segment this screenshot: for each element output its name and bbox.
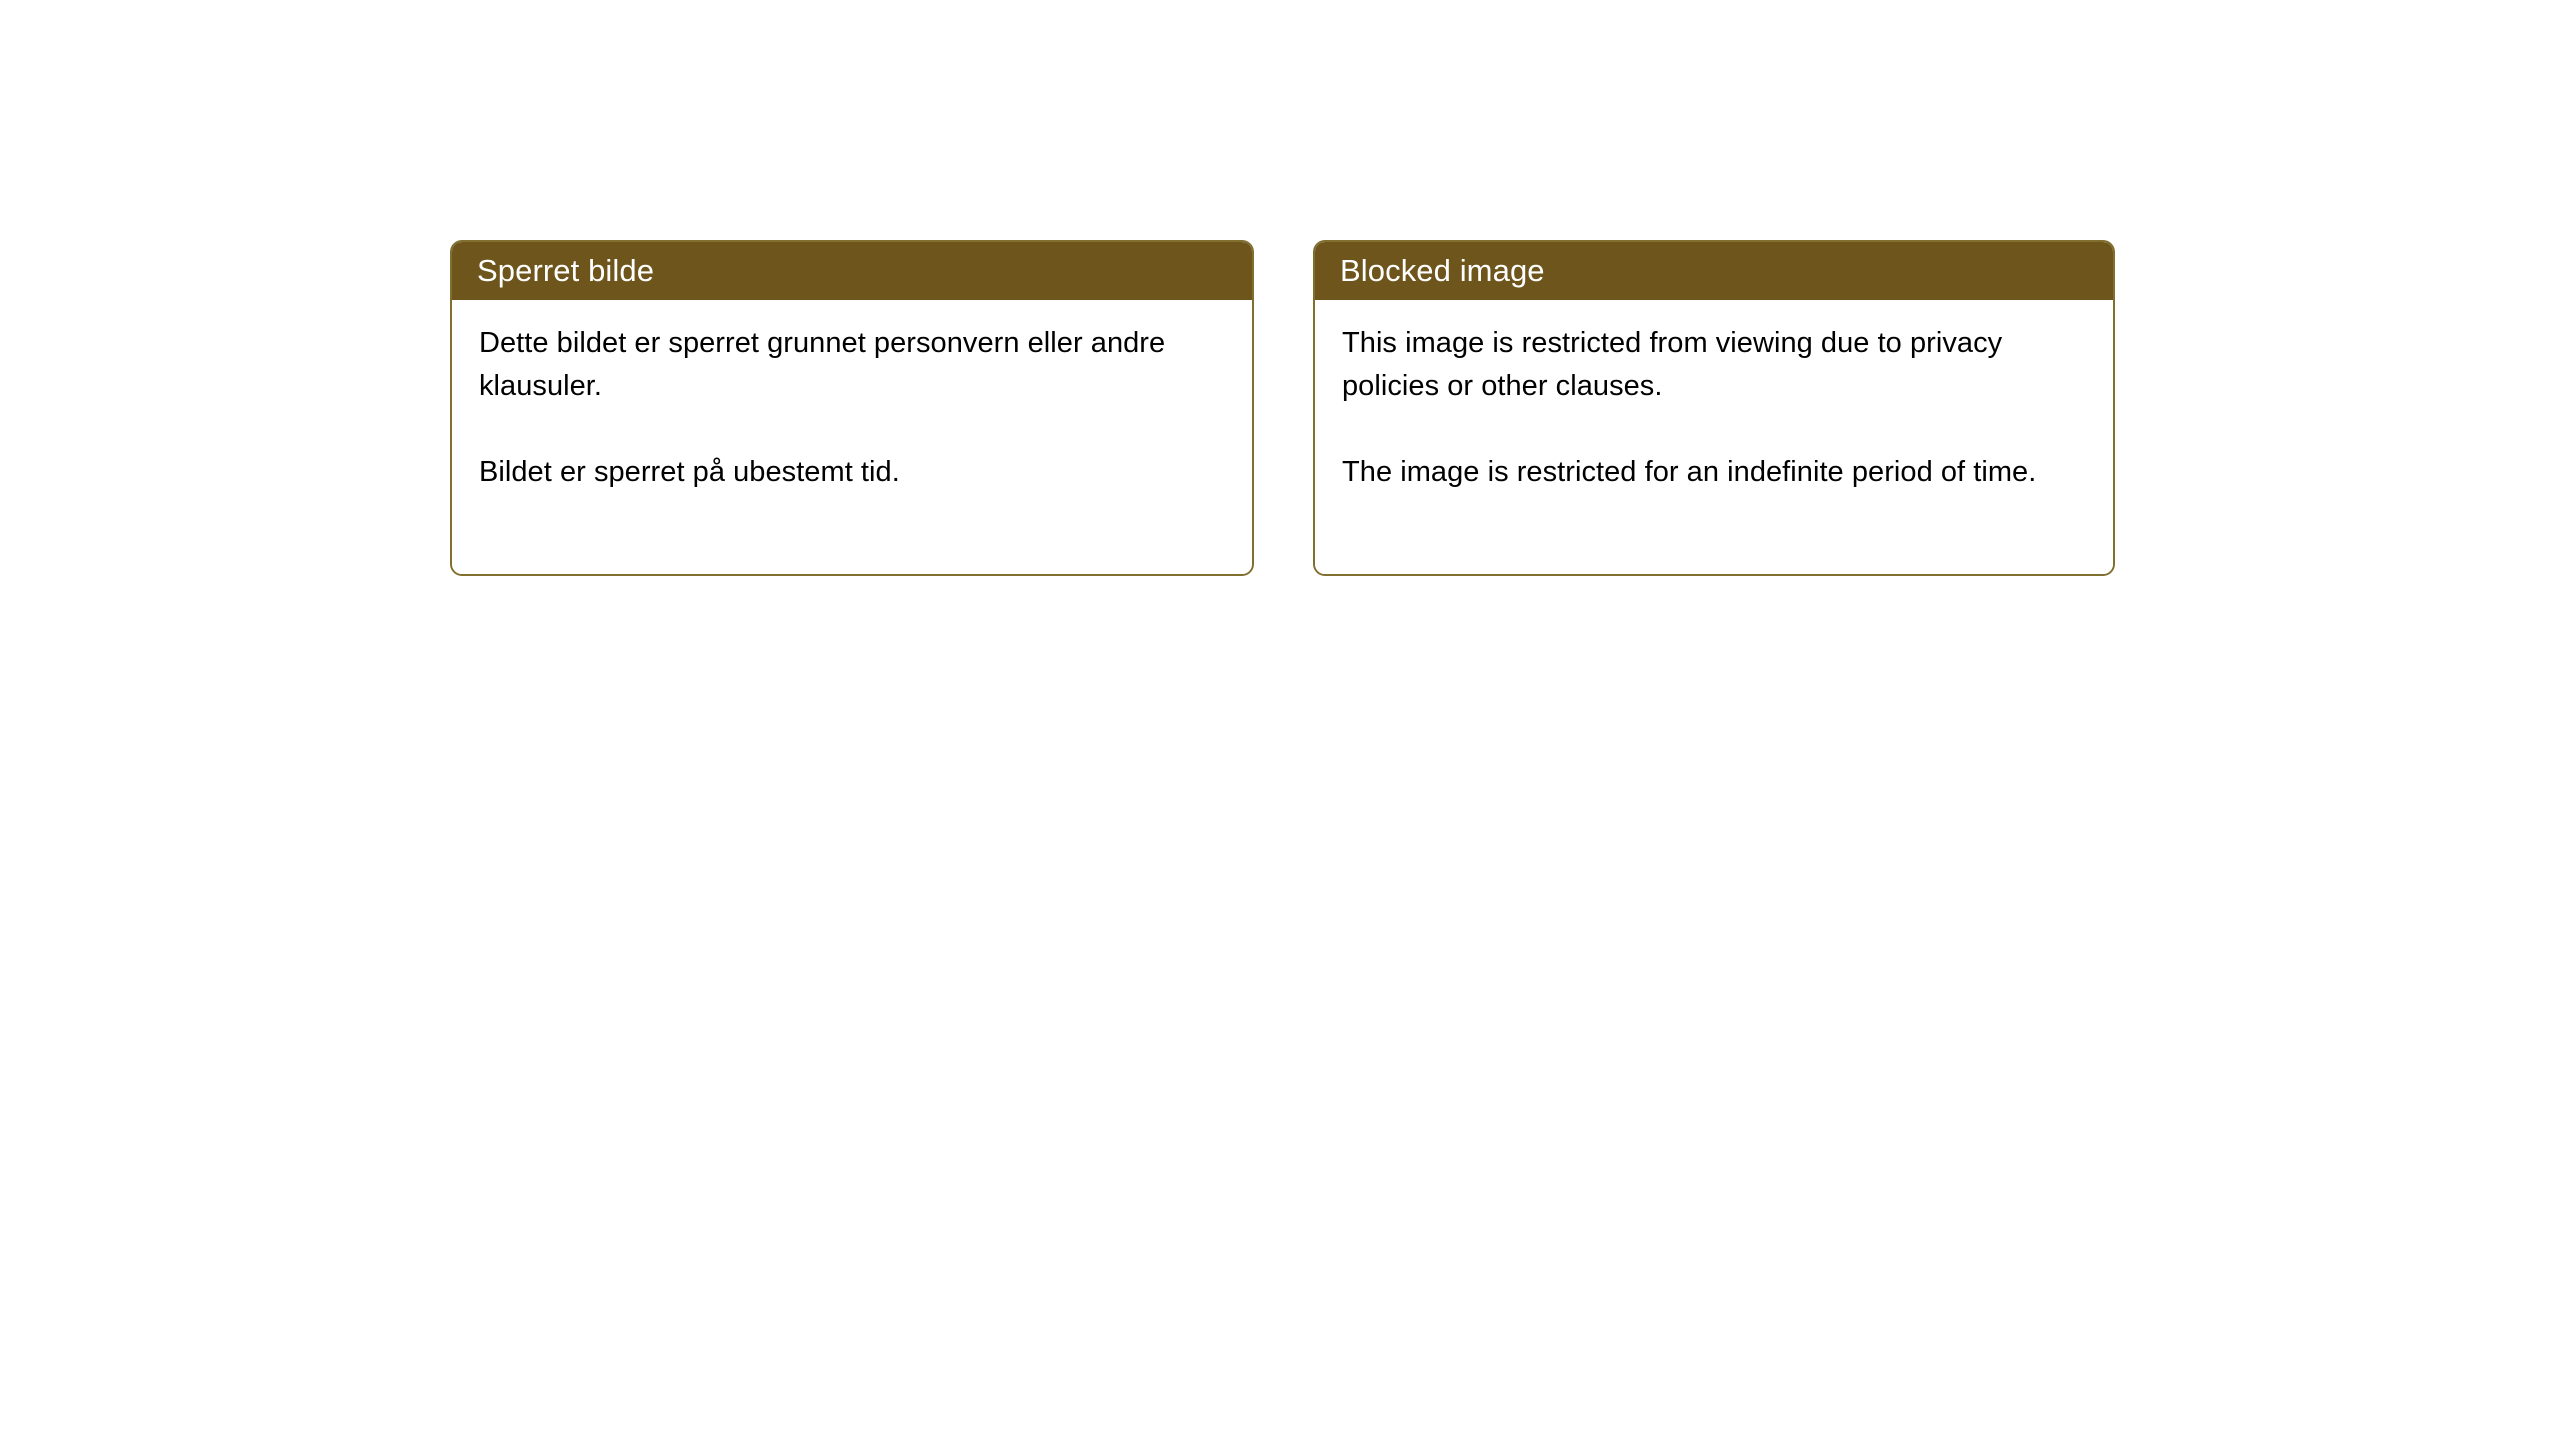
notice-header-english: Blocked image [1315,242,2113,300]
notice-title-english: Blocked image [1340,254,1545,288]
notice-body-norwegian: Dette bildet er sperret grunnet personve… [452,300,1252,574]
blocked-image-notice-english: Blocked image This image is restricted f… [1313,240,2115,576]
notice-header-norwegian: Sperret bilde [452,242,1252,300]
notice-paragraph-primary-norwegian: Dette bildet er sperret grunnet personve… [479,322,1230,408]
notice-paragraph-primary-english: This image is restricted from viewing du… [1342,322,2091,408]
notice-paragraph-secondary-english: The image is restricted for an indefinit… [1342,451,2091,494]
notice-body-english: This image is restricted from viewing du… [1315,300,2113,574]
page-root: Sperret bilde Dette bildet er sperret gr… [0,0,2560,1440]
notice-paragraph-secondary-norwegian: Bildet er sperret på ubestemt tid. [479,451,1230,494]
notice-title-norwegian: Sperret bilde [477,254,654,288]
blocked-image-notice-norwegian: Sperret bilde Dette bildet er sperret gr… [450,240,1254,576]
